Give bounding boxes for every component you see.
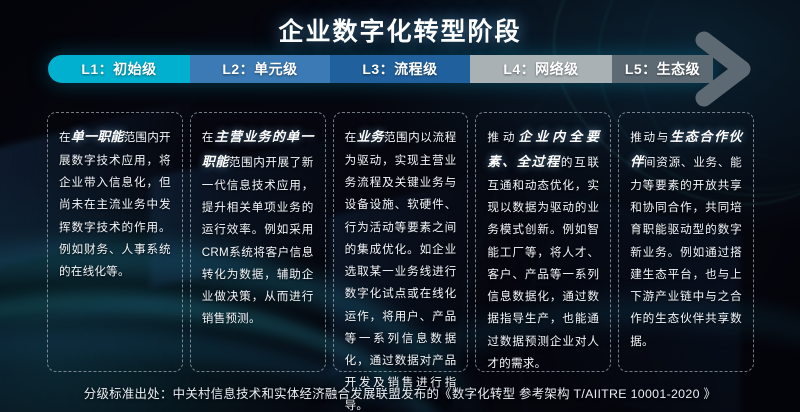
stage-card-lead: 推动 <box>487 131 518 144</box>
level-segment-l2[interactable]: L2：单元级 <box>190 55 330 83</box>
stage-card-body: 范围内开展数字技术应用，将企业带入信息化，但尚未在主流业务中发挥数字技术的作用。… <box>59 131 171 278</box>
stage-card-highlight: 单一职能 <box>71 129 124 144</box>
infographic-canvas: 企业数字化转型阶段 L1：初始级 L2：单元级 L3：流程级 L4：网络级 L5… <box>0 0 800 412</box>
stage-card-text: 推动与生态合作伙伴间资源、业务、能力等要素的开放共享和协同合作，共同培育职能驱动… <box>630 125 742 353</box>
source-note: 分级标准出处：中关村信息技术和实体经济融合发展联盟发布的《数字化转型 参考架构 … <box>0 384 800 402</box>
stage-card-text: 在业务范围内以流程为驱动，实现主营业务流程及关键业务与设备设施、软硬件、行为活动… <box>345 125 457 412</box>
stage-card-body: 的互联互通和动态优化，实现以数据为驱动的业务模式创新。例如智能工厂等，将人才、客… <box>487 156 599 370</box>
maturity-level-bar: L1：初始级 L2：单元级 L3：流程级 L4：网络级 L5：生态级 <box>48 55 713 83</box>
level-segment-l1[interactable]: L1：初始级 <box>48 55 190 83</box>
page-title: 企业数字化转型阶段 <box>0 12 800 48</box>
stage-card: 在业务范围内以流程为驱动，实现主营业务流程及关键业务与设备设施、软硬件、行为活动… <box>333 112 469 372</box>
stage-card-lead: 在 <box>202 131 215 144</box>
stage-card-body: 范围内以流程为驱动，实现主营业务流程及关键业务与设备设施、软硬件、行为活动等要素… <box>345 131 457 412</box>
stage-card-lead: 在 <box>345 131 357 144</box>
stage-card-text: 推动企业内全要素、全过程的互联互通和动态优化，实现以数据为驱动的业务模式创新。例… <box>487 125 599 375</box>
stage-card-body: 间资源、业务、能力等要素的开放共享和协同合作，共同培育职能驱动型的数字新业务。例… <box>630 156 742 348</box>
stage-card-text: 在单一职能范围内开展数字技术应用，将企业带入信息化，但尚未在主流业务中发挥数字技… <box>59 125 171 283</box>
stage-card: 推动企业内全要素、全过程的互联互通和动态优化，实现以数据为驱动的业务模式创新。例… <box>475 112 611 372</box>
stage-card-body: 范围内开展了新一代信息技术应用，提升相关单项业务的运行效率。例如采用CRM系统将… <box>202 156 314 325</box>
stage-card: 推动与生态合作伙伴间资源、业务、能力等要素的开放共享和协同合作，共同培育职能驱动… <box>618 112 754 372</box>
stage-card-lead: 推动与 <box>630 131 670 144</box>
level-segment-l3[interactable]: L3：流程级 <box>330 55 470 83</box>
stage-card-highlight: 业务 <box>357 129 384 144</box>
stage-card-text: 在主营业务的单一职能范围内开展了新一代信息技术应用，提升相关单项业务的运行效率。… <box>202 125 314 331</box>
stage-card-list: 在单一职能范围内开展数字技术应用，将企业带入信息化，但尚未在主流业务中发挥数字技… <box>47 112 754 372</box>
arrow-right-icon <box>694 30 780 108</box>
stage-card: 在单一职能范围内开展数字技术应用，将企业带入信息化，但尚未在主流业务中发挥数字技… <box>47 112 183 372</box>
level-segment-l4[interactable]: L4：网络级 <box>470 55 612 83</box>
stage-card-lead: 在 <box>59 131 71 144</box>
stage-card: 在主营业务的单一职能范围内开展了新一代信息技术应用，提升相关单项业务的运行效率。… <box>190 112 326 372</box>
